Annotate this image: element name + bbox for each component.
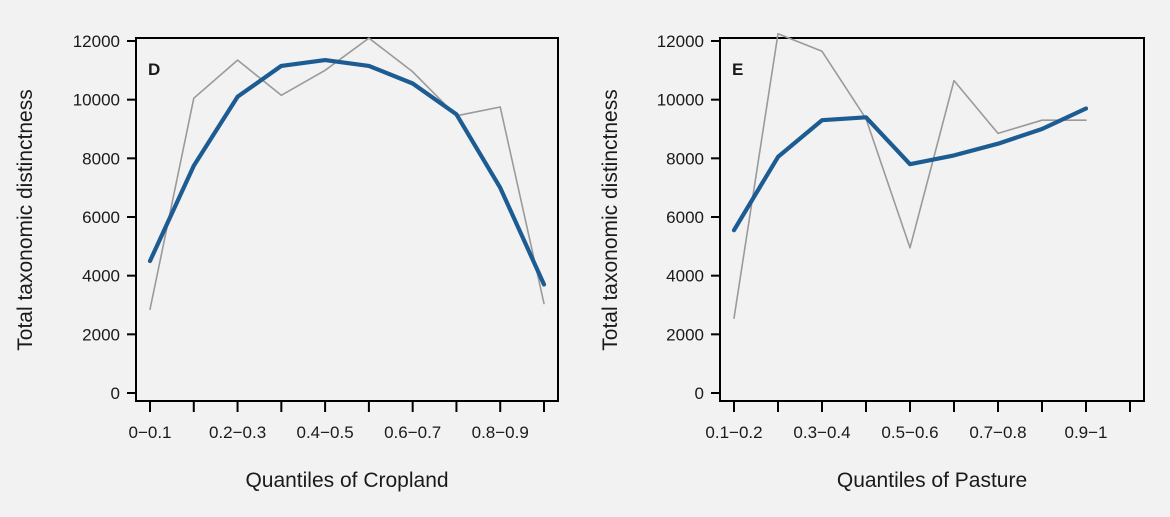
panel-d-svg: Total taxonomic distinctness 02000400060… [0, 0, 585, 517]
y-tick-label: 8000 [82, 149, 120, 168]
x-tick-label: 0.8−0.9 [472, 423, 529, 442]
figure-root: Total taxonomic distinctness 02000400060… [0, 0, 1170, 517]
y-tick-label: 4000 [666, 267, 704, 286]
y-tick-label: 6000 [82, 208, 120, 227]
y-tick-label: 2000 [82, 325, 120, 344]
y-tick-labels-e: 020004000600080001000012000 [657, 32, 704, 403]
x-tick-label: 0.2−0.3 [209, 423, 266, 442]
x-tick-marks-e [734, 401, 1130, 412]
y-tick-label: 8000 [666, 149, 704, 168]
chart-panel-e: Total taxonomic distinctness 02000400060… [585, 0, 1170, 517]
plot-frame-e [720, 38, 1144, 401]
series-observed-e [734, 34, 1086, 319]
y-tick-marks-e [711, 41, 720, 393]
chart-panel-d: Total taxonomic distinctness 02000400060… [0, 0, 585, 517]
series-smooth-d [150, 60, 544, 284]
panel-letter-e: E [732, 60, 743, 79]
y-tick-label: 0 [111, 384, 120, 403]
x-tick-label: 0.1−0.2 [705, 423, 762, 442]
x-tick-label: 0.9−1 [1064, 423, 1107, 442]
y-tick-label: 12000 [73, 32, 120, 51]
x-tick-labels-d: 0−0.10.2−0.30.4−0.50.6−0.70.8−0.9 [128, 423, 528, 442]
x-tick-label: 0.5−0.6 [881, 423, 938, 442]
y-tick-label: 0 [695, 384, 704, 403]
x-tick-labels-e: 0.1−0.20.3−0.40.5−0.60.7−0.80.9−1 [705, 423, 1107, 442]
x-tick-label: 0.4−0.5 [297, 423, 354, 442]
panel-letter-d: D [148, 60, 160, 79]
x-axis-title-d: Quantiles of Cropland [245, 469, 448, 492]
y-axis-title-e: Total taxonomic distinctness [599, 89, 622, 350]
y-tick-label: 12000 [657, 32, 704, 51]
x-axis-title-e: Quantiles of Pasture [837, 469, 1027, 492]
x-tick-label: 0−0.1 [128, 423, 171, 442]
x-tick-marks-d [150, 401, 544, 412]
y-tick-label: 2000 [666, 325, 704, 344]
x-tick-label: 0.3−0.4 [793, 423, 850, 442]
y-tick-label: 6000 [666, 208, 704, 227]
x-tick-label: 0.6−0.7 [384, 423, 441, 442]
y-tick-labels-d: 020004000600080001000012000 [73, 32, 120, 403]
y-tick-label: 10000 [73, 91, 120, 110]
y-axis-title-d: Total taxonomic distinctness [14, 89, 37, 350]
series-observed-d [150, 38, 544, 309]
panel-e-svg: Total taxonomic distinctness 02000400060… [585, 0, 1170, 517]
y-tick-label: 4000 [82, 267, 120, 286]
x-tick-label: 0.7−0.8 [969, 423, 1026, 442]
y-tick-label: 10000 [657, 91, 704, 110]
y-tick-marks-d [127, 41, 136, 393]
series-smooth-e [734, 109, 1086, 231]
